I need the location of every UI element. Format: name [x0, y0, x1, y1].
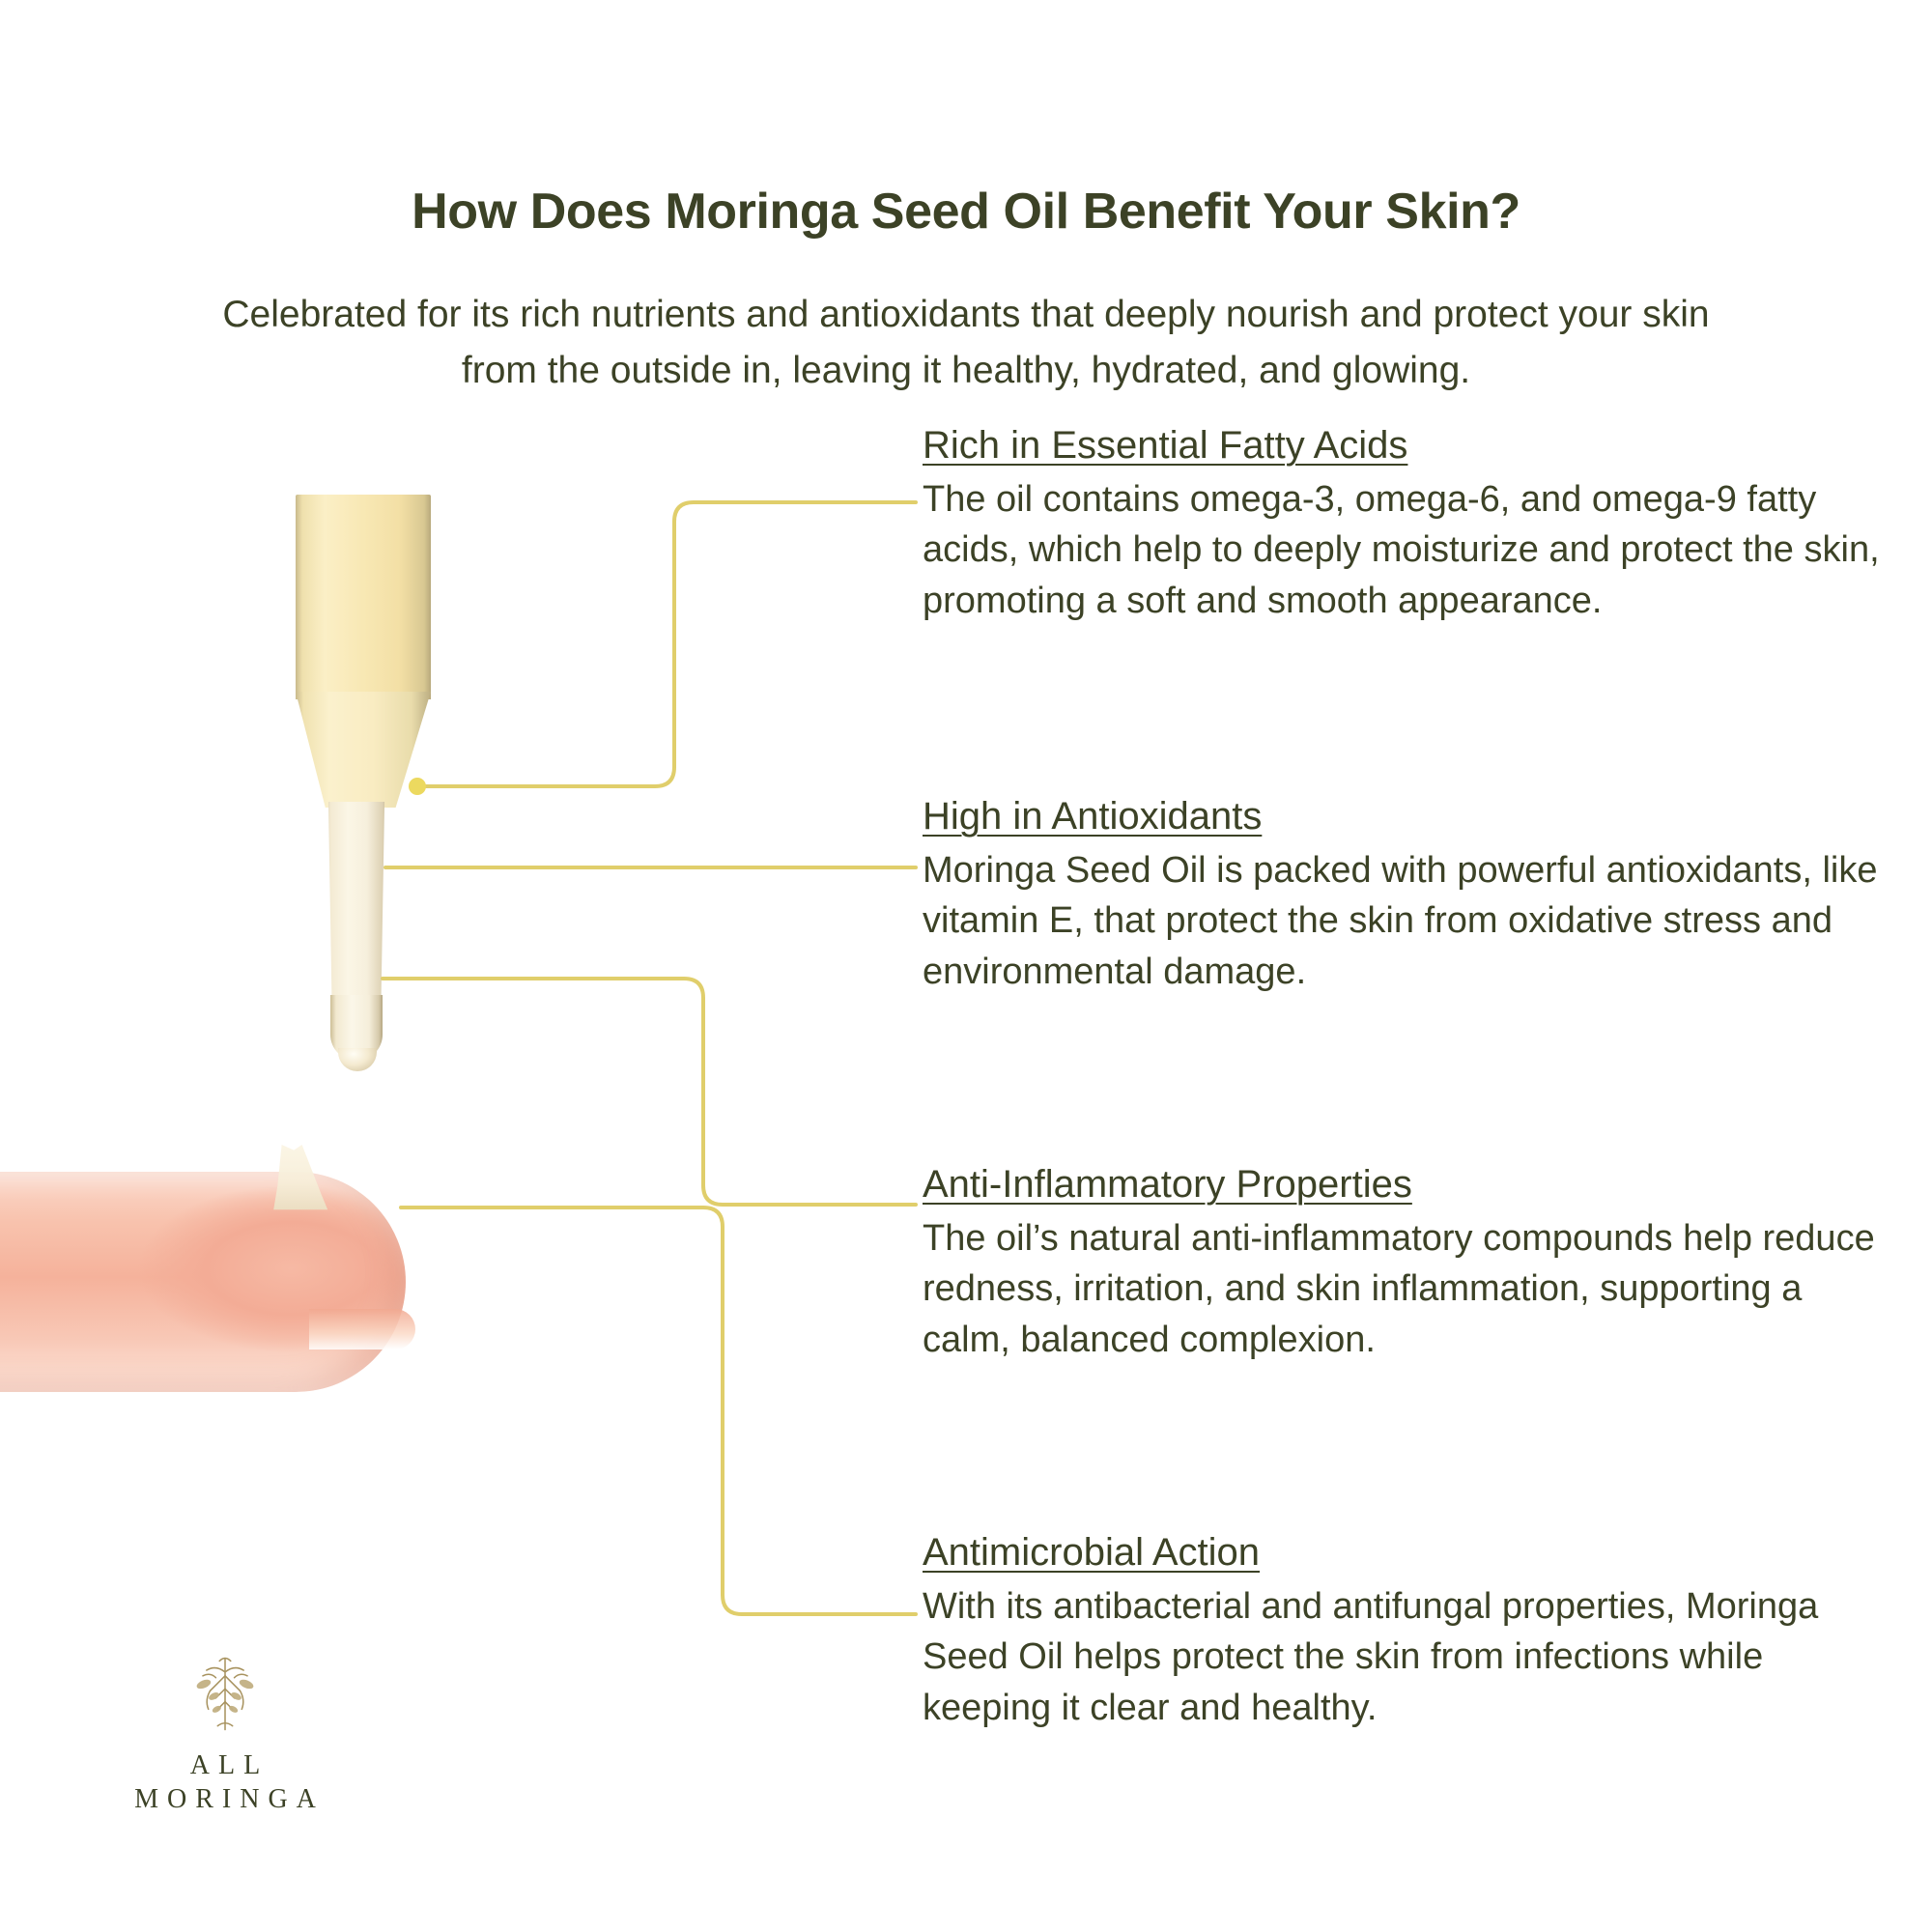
benefit-body-3: The oil’s natural anti-inflammatory comp…: [923, 1213, 1889, 1365]
benefit-title-1: Rich in Essential Fatty Acids: [923, 422, 1889, 469]
brand-logo: ALL MORINGA: [114, 1648, 336, 1816]
moringa-tree-ornament-icon: [179, 1648, 271, 1741]
dropper-shoulder: [296, 692, 431, 808]
dropper-stem: [325, 802, 388, 1026]
finger-body: [0, 1172, 406, 1392]
benefit-title-4: Antimicrobial Action: [923, 1529, 1889, 1576]
benefit-item-4: Antimicrobial Action With its antibacter…: [923, 1529, 1889, 1733]
benefit-body-1: The oil contains omega-3, omega-6, and o…: [923, 474, 1889, 626]
benefit-body-2: Moringa Seed Oil is packed with powerful…: [923, 845, 1889, 997]
benefit-title-3: Anti-Inflammatory Properties: [923, 1161, 1889, 1207]
page-title: How Does Moringa Seed Oil Benefit Your S…: [0, 184, 1932, 240]
page-subtitle: Celebrated for its rich nutrients and an…: [184, 287, 1748, 398]
benefit-title-2: High in Antioxidants: [923, 793, 1889, 839]
benefit-body-4: With its antibacterial and antifungal pr…: [923, 1581, 1889, 1733]
oil-droplet: [338, 1048, 377, 1071]
fingertip-image: [0, 1145, 444, 1454]
benefit-item-3: Anti-Inflammatory Properties The oil’s n…: [923, 1161, 1889, 1365]
dropper-barrel: [296, 495, 431, 699]
logo-text-all: ALL: [114, 1748, 336, 1782]
benefit-item-2: High in Antioxidants Moringa Seed Oil is…: [923, 793, 1889, 997]
oil-dropper-image: [0, 415, 599, 1092]
logo-text-moringa: MORINGA: [114, 1782, 336, 1816]
benefit-item-1: Rich in Essential Fatty Acids The oil co…: [923, 422, 1889, 626]
oil-photo-composition: [0, 415, 599, 1478]
fingernail: [309, 1309, 415, 1350]
infographic-page: How Does Moringa Seed Oil Benefit Your S…: [0, 0, 1932, 1932]
